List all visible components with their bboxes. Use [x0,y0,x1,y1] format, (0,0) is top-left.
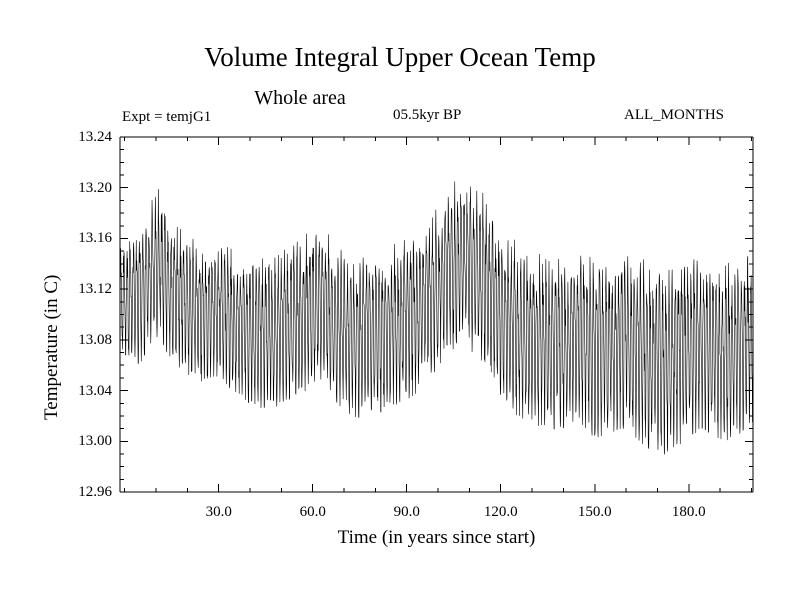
figure-canvas: Volume Integral Upper Ocean Temp Whole a… [0,0,800,600]
plot-area [0,0,800,600]
data-series-line [120,181,753,454]
